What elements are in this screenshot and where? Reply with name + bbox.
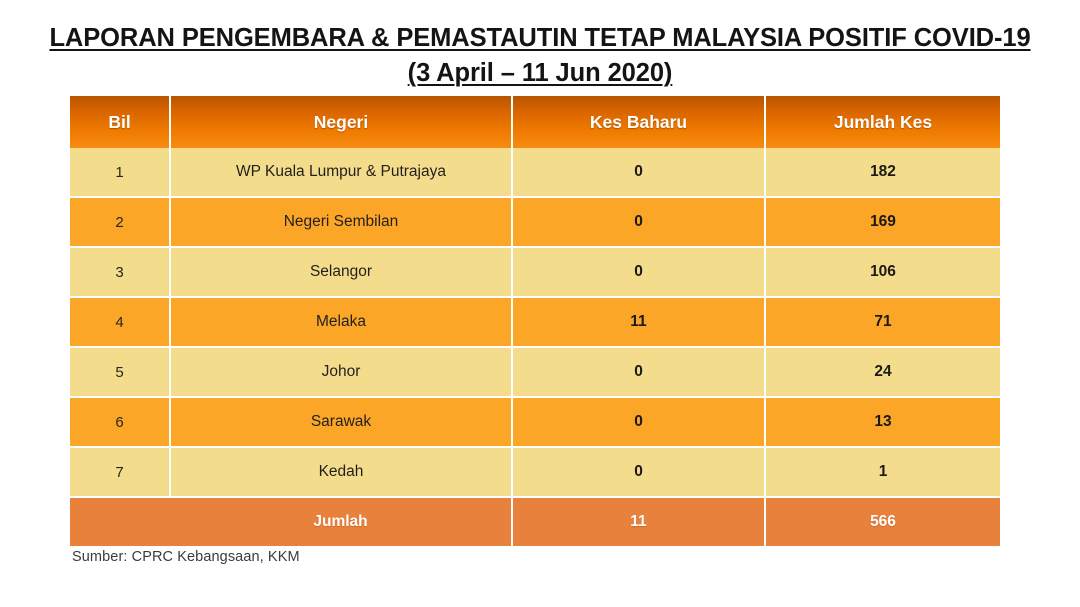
table-row: 4 Melaka 11 71 bbox=[70, 297, 1000, 347]
cell-bil: 5 bbox=[70, 347, 170, 397]
table-row: 1 WP Kuala Lumpur & Putrajaya 0 182 bbox=[70, 148, 1000, 197]
cases-table: Bil Negeri Kes Baharu Jumlah Kes 1 WP Ku… bbox=[70, 96, 1000, 546]
table-row: 7 Kedah 0 1 bbox=[70, 447, 1000, 497]
cell-negeri: Sarawak bbox=[170, 397, 512, 447]
cell-jumlah-kes: 169 bbox=[765, 197, 1000, 247]
column-header-jumlah-kes: Jumlah Kes bbox=[765, 96, 1000, 148]
cell-negeri: Kedah bbox=[170, 447, 512, 497]
cell-jumlah-kes: 24 bbox=[765, 347, 1000, 397]
table-row: 2 Negeri Sembilan 0 169 bbox=[70, 197, 1000, 247]
source-note: Sumber: CPRC Kebangsaan, KKM bbox=[72, 549, 300, 565]
cell-jumlah-kes: 182 bbox=[765, 148, 1000, 197]
cell-negeri: Johor bbox=[170, 347, 512, 397]
cell-jumlah-kes: 106 bbox=[765, 247, 1000, 297]
cell-kes-baharu: 0 bbox=[512, 197, 765, 247]
column-header-bil: Bil bbox=[70, 96, 170, 148]
table-header: Bil Negeri Kes Baharu Jumlah Kes bbox=[70, 96, 1000, 148]
total-row-label: Jumlah bbox=[170, 497, 512, 546]
table-row: 3 Selangor 0 106 bbox=[70, 247, 1000, 297]
cases-table-container: Bil Negeri Kes Baharu Jumlah Kes 1 WP Ku… bbox=[70, 96, 1000, 546]
cell-kes-baharu: 11 bbox=[512, 297, 765, 347]
table-row: 5 Johor 0 24 bbox=[70, 347, 1000, 397]
cell-kes-baharu: 0 bbox=[512, 148, 765, 197]
cell-negeri: Selangor bbox=[170, 247, 512, 297]
cell-bil: 1 bbox=[70, 148, 170, 197]
cell-kes-baharu: 0 bbox=[512, 397, 765, 447]
column-header-negeri: Negeri bbox=[170, 96, 512, 148]
cell-negeri: Melaka bbox=[170, 297, 512, 347]
title-line-1: LAPORAN PENGEMBARA & PEMASTAUTIN TETAP M… bbox=[49, 22, 1030, 55]
page-title: LAPORAN PENGEMBARA & PEMASTAUTIN TETAP M… bbox=[0, 22, 1080, 90]
cell-kes-baharu: 0 bbox=[512, 247, 765, 297]
cell-bil: 6 bbox=[70, 397, 170, 447]
cell-bil: 4 bbox=[70, 297, 170, 347]
cell-negeri: Negeri Sembilan bbox=[170, 197, 512, 247]
table-row: 6 Sarawak 0 13 bbox=[70, 397, 1000, 447]
table-header-row: Bil Negeri Kes Baharu Jumlah Kes bbox=[70, 96, 1000, 148]
cell-bil: 3 bbox=[70, 247, 170, 297]
total-jumlah-kes: 566 bbox=[765, 497, 1000, 546]
cell-jumlah-kes: 71 bbox=[765, 297, 1000, 347]
column-header-kes-baharu: Kes Baharu bbox=[512, 96, 765, 148]
cell-kes-baharu: 0 bbox=[512, 347, 765, 397]
total-row-spacer bbox=[70, 497, 170, 546]
cell-negeri: WP Kuala Lumpur & Putrajaya bbox=[170, 148, 512, 197]
title-line-2: (3 April – 11 Jun 2020) bbox=[408, 57, 673, 90]
cell-jumlah-kes: 13 bbox=[765, 397, 1000, 447]
table-body: 1 WP Kuala Lumpur & Putrajaya 0 182 2 Ne… bbox=[70, 148, 1000, 546]
table-total-row: Jumlah 11 566 bbox=[70, 497, 1000, 546]
total-kes-baharu: 11 bbox=[512, 497, 765, 546]
cell-bil: 2 bbox=[70, 197, 170, 247]
cell-kes-baharu: 0 bbox=[512, 447, 765, 497]
slide-root: LAPORAN PENGEMBARA & PEMASTAUTIN TETAP M… bbox=[0, 0, 1080, 607]
cell-bil: 7 bbox=[70, 447, 170, 497]
cell-jumlah-kes: 1 bbox=[765, 447, 1000, 497]
